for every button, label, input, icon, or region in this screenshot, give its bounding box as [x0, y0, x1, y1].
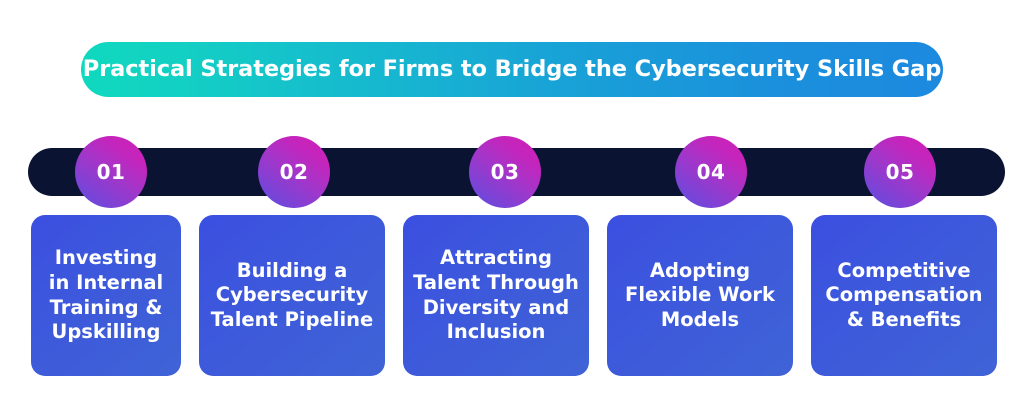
step-badge-2: 02	[258, 136, 330, 208]
strategy-card-2-label: Building a Cybersecurity Talent Pipeline	[211, 259, 373, 333]
step-number-4: 04	[697, 162, 726, 182]
infographic-canvas: Practical Strategies for Firms to Bridge…	[0, 0, 1024, 411]
page-title: Practical Strategies for Firms to Bridge…	[83, 58, 942, 81]
strategy-card-3-label: Attracting Talent Through Diversity and …	[413, 246, 579, 344]
title-banner: Practical Strategies for Firms to Bridge…	[81, 42, 943, 97]
strategy-card-1: Investing in Internal Training & Upskill…	[31, 215, 181, 376]
strategy-card-3: Attracting Talent Through Diversity and …	[403, 215, 589, 376]
strategy-card-2: Building a Cybersecurity Talent Pipeline	[199, 215, 385, 376]
strategy-card-4-label: Adopting Flexible Work Models	[625, 259, 775, 333]
step-badge-1: 01	[75, 136, 147, 208]
strategy-card-5-label: Competitive Compensation & Benefits	[825, 259, 982, 333]
step-badge-3: 03	[469, 136, 541, 208]
strategy-card-1-label: Investing in Internal Training & Upskill…	[49, 246, 163, 344]
step-number-5: 05	[886, 162, 915, 182]
step-number-3: 03	[491, 162, 520, 182]
step-number-2: 02	[280, 162, 309, 182]
step-number-1: 01	[97, 162, 126, 182]
strategy-card-4: Adopting Flexible Work Models	[607, 215, 793, 376]
step-badge-4: 04	[675, 136, 747, 208]
step-badge-5: 05	[864, 136, 936, 208]
strategy-card-5: Competitive Compensation & Benefits	[811, 215, 997, 376]
